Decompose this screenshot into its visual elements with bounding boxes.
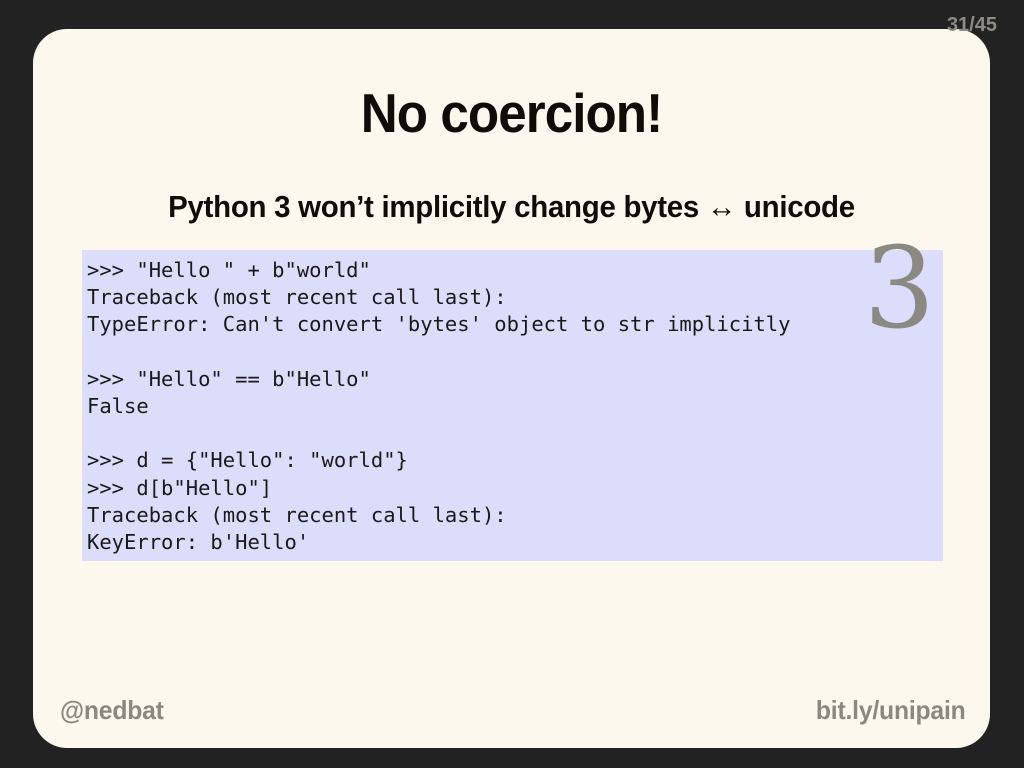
code-line-blank [87,420,943,447]
code-line: >>> "Hello " + b"world" [87,257,943,284]
code-line: Traceback (most recent call last): [87,502,943,529]
page-counter: 31/45 [947,14,997,37]
code-line: >>> d = {"Hello": "world"} [87,447,943,474]
footer-talk-url: bit.ly/unipain [816,695,966,726]
code-line: >>> "Hello" == b"Hello" [87,366,943,393]
code-line: Traceback (most recent call last): [87,284,943,311]
code-line: TypeError: Can't convert 'bytes' object … [87,311,943,338]
code-block: >>> "Hello " + b"world" Traceback (most … [82,250,943,561]
code-line: >>> d[b"Hello"] [87,475,943,502]
slide-deck: 31/45 No coercion! Python 3 won’t implic… [0,0,1024,768]
code-line-blank [87,339,943,366]
footer-author-handle: @nedbat [60,695,164,726]
code-section: 3 >>> "Hello " + b"world" Traceback (mos… [82,250,943,561]
slide-subtitle: Python 3 won’t implicitly change bytes ↔… [57,189,966,225]
slide-canvas: No coercion! Python 3 won’t implicitly c… [33,29,990,748]
code-line: KeyError: b'Hello' [87,529,943,556]
code-line: False [87,393,943,420]
page-title: No coercion! [66,81,956,145]
